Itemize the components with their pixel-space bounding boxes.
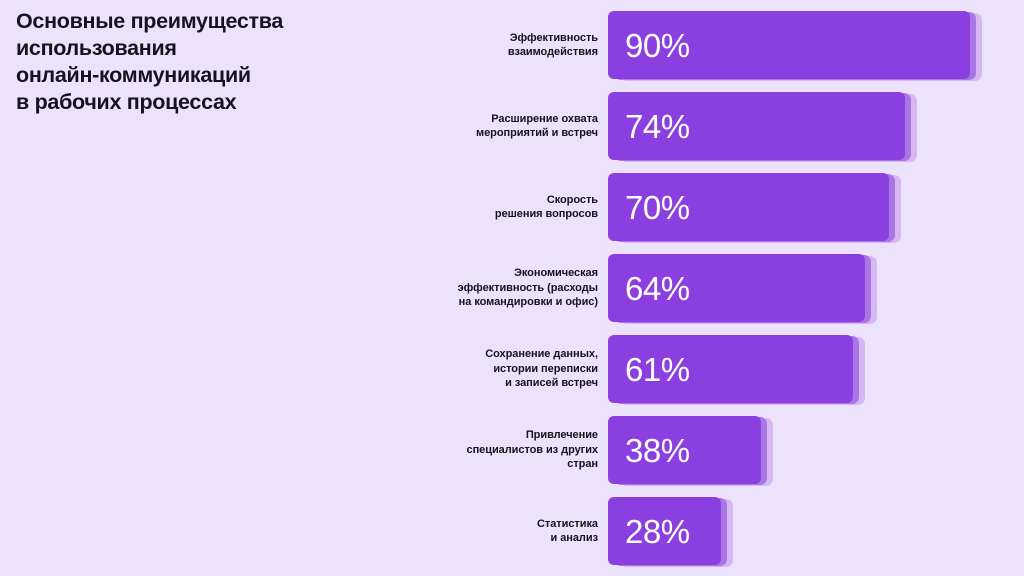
- bar-fill: 74%: [608, 92, 905, 160]
- bar: 38%: [608, 416, 761, 484]
- bar-category-label-line: и анализ: [550, 531, 598, 546]
- bar-category-label-line: специалистов из других: [467, 443, 599, 458]
- bar-category-label-line: Привлечение: [526, 428, 598, 443]
- bar-value-label: 61%: [625, 353, 690, 386]
- bar-category-label: Скоростьрешения вопросов: [298, 173, 598, 241]
- bar-category-label-line: Экономическая: [514, 266, 598, 281]
- bar: 28%: [608, 497, 721, 565]
- bar: 61%: [608, 335, 853, 403]
- bar-row: Привлечениеспециалистов из другихстран38…: [0, 416, 1024, 484]
- bar-fill: 38%: [608, 416, 761, 484]
- bar-row: Статистикаи анализ28%: [0, 497, 1024, 565]
- slide-canvas: Основные преимуществаиспользованияонлайн…: [0, 0, 1024, 576]
- bar-category-label-line: на командировки и офис): [459, 295, 598, 310]
- bar-category-label-line: взаимодействия: [508, 45, 598, 60]
- bar-category-label-line: и записей встреч: [505, 376, 598, 391]
- bar-category-label-line: мероприятий и встреч: [476, 126, 598, 141]
- bar: 90%: [608, 11, 970, 79]
- bar-category-label: Сохранение данных,истории перепискии зап…: [298, 335, 598, 403]
- bar-category-label-line: решения вопросов: [495, 207, 598, 222]
- bar-value-label: 90%: [625, 29, 690, 62]
- bar-value-label: 64%: [625, 272, 690, 305]
- bar-category-label-line: стран: [567, 457, 598, 472]
- bar-category-label-line: Расширение охвата: [491, 112, 598, 127]
- bar-row: Скоростьрешения вопросов70%: [0, 173, 1024, 241]
- bar-fill: 90%: [608, 11, 970, 79]
- bar-category-label: Привлечениеспециалистов из другихстран: [298, 416, 598, 484]
- bar-category-label-line: Эффективность: [510, 31, 598, 46]
- bar-value-label: 38%: [625, 434, 690, 467]
- bar-category-label-line: Сохранение данных,: [485, 347, 598, 362]
- bar-category-label: Статистикаи анализ: [298, 497, 598, 565]
- bar-category-label: Расширение охватамероприятий и встреч: [298, 92, 598, 160]
- bar-fill: 61%: [608, 335, 853, 403]
- bar-fill: 64%: [608, 254, 865, 322]
- bar-category-label: Экономическаяэффективность (расходына ко…: [298, 254, 598, 322]
- bar-row: Сохранение данных,истории перепискии зап…: [0, 335, 1024, 403]
- bar-category-label: Эффективностьвзаимодействия: [298, 11, 598, 79]
- horizontal-bar-chart: Эффективностьвзаимодействия90%Расширение…: [0, 0, 1024, 576]
- bar: 64%: [608, 254, 865, 322]
- bar-fill: 70%: [608, 173, 889, 241]
- bar-row: Расширение охватамероприятий и встреч74%: [0, 92, 1024, 160]
- bar: 74%: [608, 92, 905, 160]
- bar-category-label-line: Скорость: [547, 193, 598, 208]
- bar: 70%: [608, 173, 889, 241]
- bar-category-label-line: истории переписки: [493, 362, 598, 377]
- bar-fill: 28%: [608, 497, 721, 565]
- bar-value-label: 28%: [625, 515, 690, 548]
- bar-category-label-line: Статистика: [537, 517, 598, 532]
- bar-row: Экономическаяэффективность (расходына ко…: [0, 254, 1024, 322]
- bar-value-label: 74%: [625, 110, 690, 143]
- bar-row: Эффективностьвзаимодействия90%: [0, 11, 1024, 79]
- bar-value-label: 70%: [625, 191, 690, 224]
- bar-category-label-line: эффективность (расходы: [458, 281, 598, 296]
